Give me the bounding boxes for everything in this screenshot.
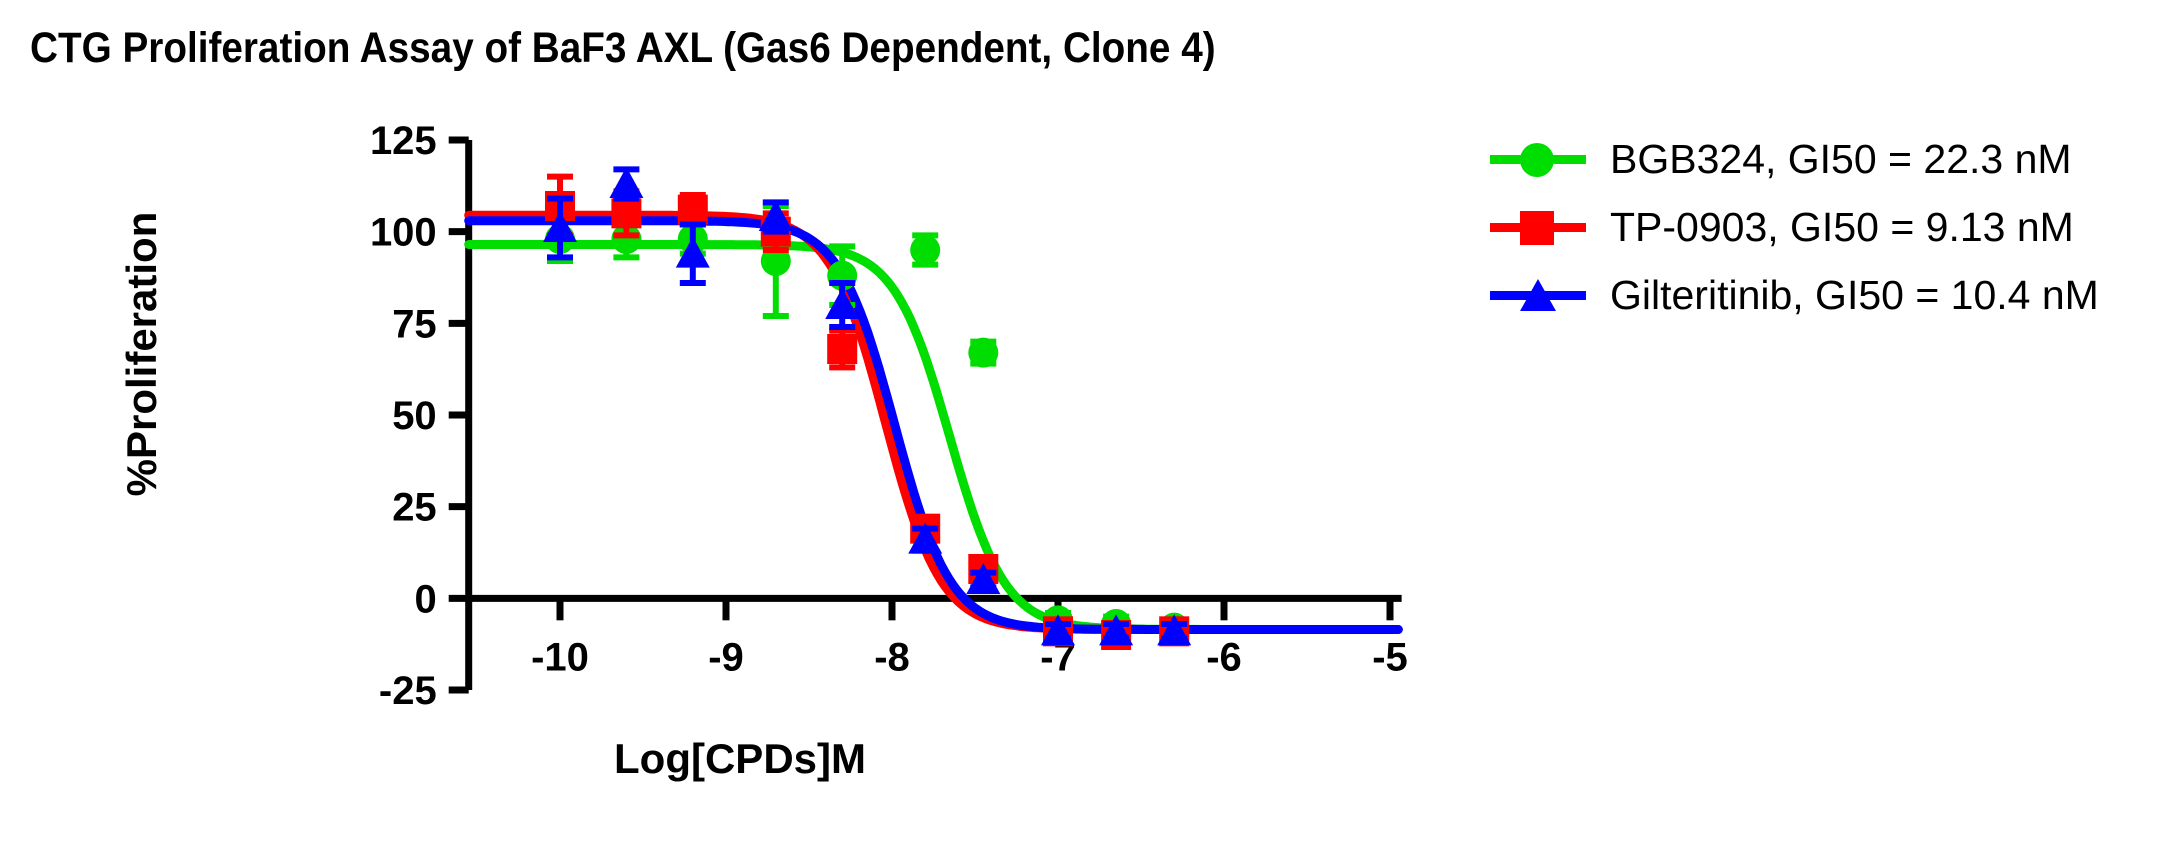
legend-key <box>1490 139 1586 179</box>
x-axis-tick-label: -8 <box>874 635 910 679</box>
plot-area: -250255075100125-10-9-8-7-6-5 %Prolifera… <box>0 0 1460 855</box>
y-axis-tick-label: 100 <box>370 211 437 255</box>
legend-item-0[interactable]: BGB324, GI50 = 22.3 nM <box>1490 128 2099 190</box>
chart-page: CTG Proliferation Assay of BaF3 AXL (Gas… <box>0 0 2174 855</box>
chart-canvas: -250255075100125-10-9-8-7-6-5 <box>0 0 1460 855</box>
y-axis-label: %Proliferation <box>118 154 166 554</box>
data-point-square <box>678 195 708 225</box>
x-axis-tick-label: -5 <box>1372 635 1408 679</box>
legend-marker-triangle <box>1520 279 1556 311</box>
y-axis-tick-label: 25 <box>392 486 437 530</box>
y-axis-tick-label: 50 <box>392 394 437 438</box>
series-points-bgb324 <box>545 206 1189 643</box>
series-curve-tp-0903 <box>469 215 1399 629</box>
legend-label: BGB324, GI50 = 22.3 nM <box>1610 136 2072 183</box>
data-point-square <box>611 198 641 228</box>
legend-item-1[interactable]: TP-0903, GI50 = 9.13 nM <box>1490 196 2099 258</box>
y-axis-tick-label: 75 <box>392 302 437 346</box>
legend-marker-square <box>1520 211 1554 245</box>
y-axis-tick-label: 0 <box>414 577 436 621</box>
legend-key <box>1490 275 1586 315</box>
y-axis-tick-label: 125 <box>370 119 437 163</box>
data-point-circle <box>968 338 998 368</box>
legend-marker-circle <box>1520 143 1554 177</box>
legend-label: Gilteritinib, GI50 = 10.4 nM <box>1610 272 2099 319</box>
chart-legend: BGB324, GI50 = 22.3 nMTP-0903, GI50 = 9.… <box>1490 128 2099 332</box>
data-point-square <box>827 334 857 364</box>
legend-key <box>1490 207 1586 247</box>
x-axis-tick-label: -10 <box>531 635 589 679</box>
data-point-circle <box>910 235 940 265</box>
legend-item-2[interactable]: Gilteritinib, GI50 = 10.4 nM <box>1490 264 2099 326</box>
x-axis-label: Log[CPDs]M <box>520 735 960 783</box>
x-axis-tick-label: -6 <box>1206 635 1242 679</box>
legend-label: TP-0903, GI50 = 9.13 nM <box>1610 204 2074 251</box>
x-axis-tick-label: -9 <box>708 635 744 679</box>
y-axis-tick-label: -25 <box>379 669 437 713</box>
